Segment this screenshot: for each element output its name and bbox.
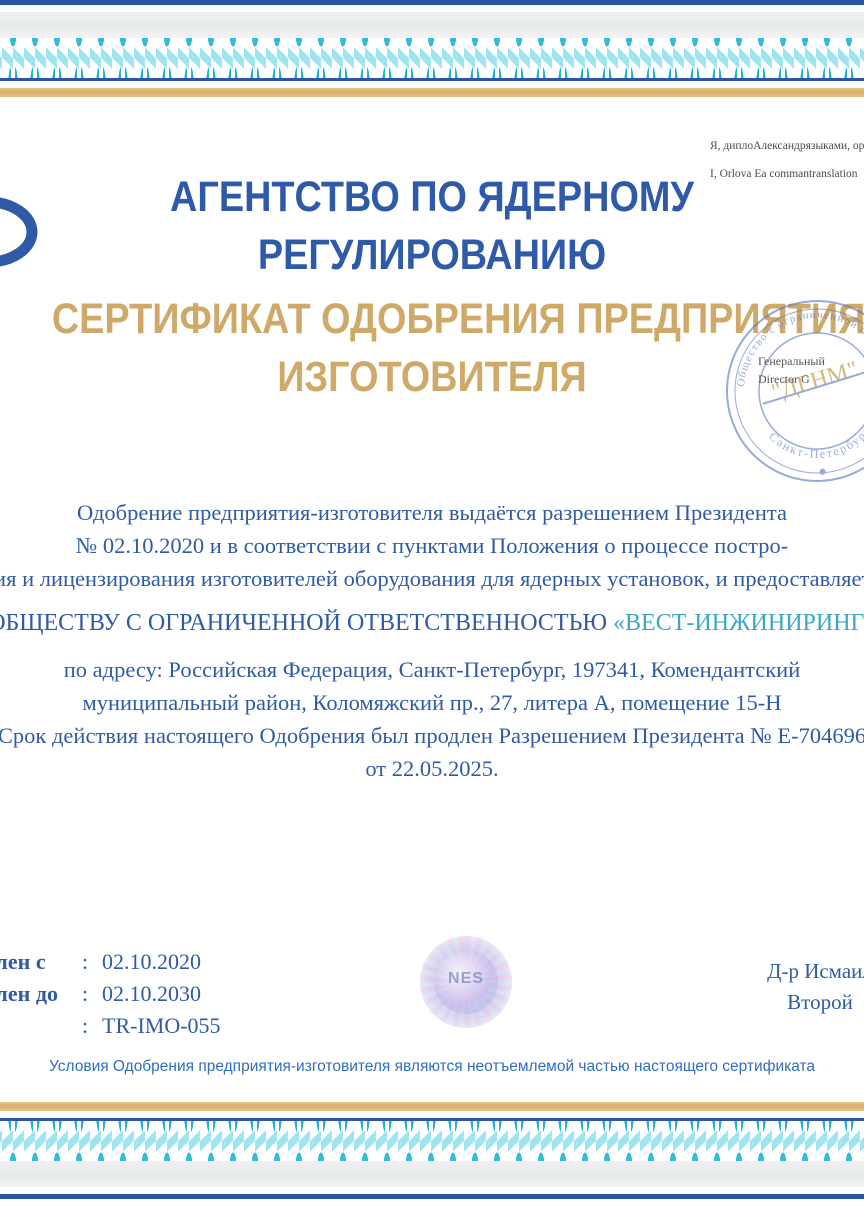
body-block: Одобрение предприятия-изготовителя выдаё… [0,496,864,785]
certificate-title-line-2: ИЗГОТОВИТЕЛЯ [52,348,812,406]
organization-line: ОБЩЕСТВУ С ОГРАНИЧЕННОЙ ОТВЕТСТВЕННОСТЬЮ… [0,603,864,643]
organization-prefix: ОБЩЕСТВУ С ОГРАНИЧЕННОЙ ОТВЕТСТВЕННОСТЬЮ [0,610,613,636]
motif-teeth-secondary-bottom [0,1121,864,1161]
address-line-1: по адресу: Российская Федерация, Санкт-П… [0,653,864,686]
top-border-band [0,0,864,108]
address-block: по адресу: Российская Федерация, Санкт-П… [0,653,864,785]
certificate-page: АГЕНТСТВО ПО ЯДЕРНОМУ РЕГУЛИРОВАНИЮ СЕРТ… [0,0,864,1220]
validity-label-code: Код [0,1010,82,1042]
validity-block: Действителен с : 02.10.2020 Действителен… [0,946,221,1042]
validity-value-from: 02.10.2020 [102,946,201,978]
body-paragraph-line-2: № 02.10.2020 и в соответствии с пунктами… [0,529,864,562]
footer-note: Условия Одобрения предприятия-изготовите… [0,1056,864,1078]
address-line-4: от 22.05.2025. [0,752,864,785]
issuer-title-line-1: АГЕНТСТВО ПО ЯДЕРНОМУ [52,168,812,226]
organization-name: «ВЕСТ-ИНЖИНИРИНГ» [613,610,864,636]
motif-teeth-secondary-top [0,38,864,78]
border-rule-white2-bottom [0,1187,864,1194]
border-rule-white2-top [0,81,864,88]
border-plain-band-top [0,12,864,38]
border-motif-top [0,38,864,78]
validity-row: Действителен с : 02.10.2020 [0,946,221,978]
validity-label-from: Действителен с [0,946,82,978]
certificate-title-line-1: СЕРТИФИКАТ ОДОБРЕНИЯ ПРЕДПРИЯТИЯ [52,290,812,348]
svg-text:Санкт-Петербург: Санкт-Петербург [766,422,864,464]
validity-row: Действителен до : 02.10.2030 [0,978,221,1010]
holographic-seal-text: NES [420,970,512,988]
validity-value-to: 02.10.2030 [102,978,201,1010]
address-line-3: Срок действия настоящего Одобрения был п… [0,719,864,752]
notary-stamp-icon: Общество с ограниченной ответственностью… [716,290,864,493]
bottom-border-band [0,1102,864,1220]
signatory-role: Второй [690,987,864,1018]
border-motif-bottom [0,1121,864,1161]
validity-row: Код : TR-IMO-055 [0,1010,221,1042]
issuer-title-line-2: РЕГУЛИРОВАНИЮ [52,226,812,284]
validity-colon-from: : [82,946,102,978]
validity-label-to: Действителен до [0,978,82,1010]
border-plain-band-bottom [0,1161,864,1187]
validity-colon-to: : [82,978,102,1010]
border-rule-gold-top [0,88,864,97]
body-paragraph-line-3: ения и лицензирования изготовителей обор… [0,562,864,595]
validity-colon-code: : [82,1010,102,1042]
translator-note: Я, диплоАлександрязыками, оригинала I, O… [710,138,864,193]
stamp-signature-labels: Генеральный Director G [758,352,864,388]
stamp-label-en: Director G [758,370,864,388]
border-rule-white-top [0,5,864,12]
signature-block: Д-р Исмаил Второй [690,956,864,1018]
border-rule-white-bottom [0,1111,864,1118]
holographic-seal-icon: NES [420,936,512,1028]
address-line-2: муниципальный район, Коломяжский пр., 27… [0,686,864,719]
translator-note-en: I, Orlova Ea commantranslation [710,166,864,183]
signatory-name: Д-р Исмаил [690,956,864,987]
validity-value-code: TR-IMO-055 [102,1010,221,1042]
stamp-label-ru: Генеральный [758,352,864,370]
body-paragraph-line-1: Одобрение предприятия-изготовителя выдаё… [0,496,864,529]
border-rule-gold-bottom [0,1102,864,1111]
translator-note-ru: Я, диплоАлександрязыками, оригинала [710,138,864,155]
border-rule-navy-bottom [0,1194,864,1199]
